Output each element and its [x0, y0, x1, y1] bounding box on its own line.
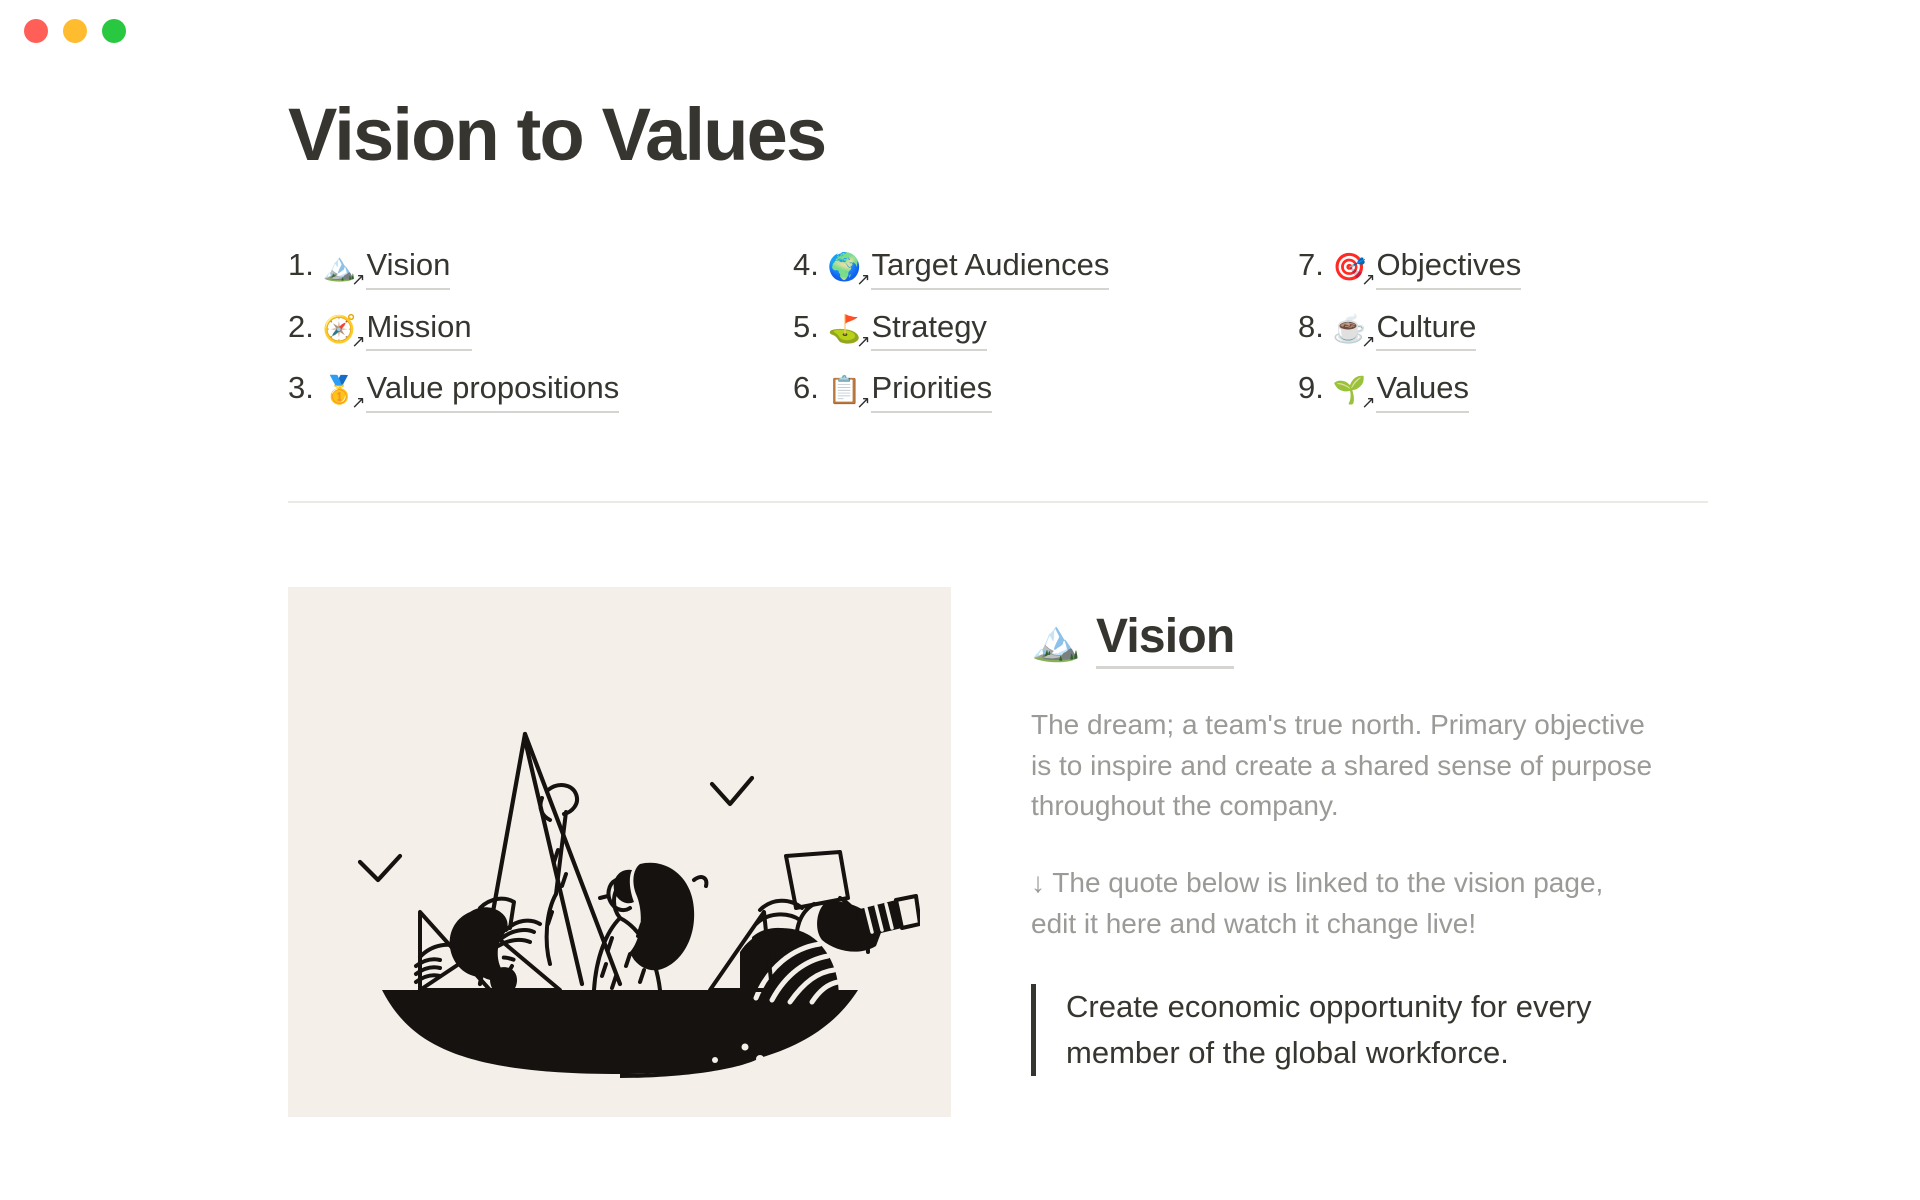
index-link[interactable]: 🏔️↗ Vision [323, 244, 451, 290]
compass-icon: 🧭↗ [323, 316, 357, 343]
index-link[interactable]: 🥇↗ Value propositions [323, 367, 619, 413]
index-number: 8. [1298, 306, 1324, 348]
index-link[interactable]: 🌍↗ Target Audiences [828, 244, 1109, 290]
index-label: Value propositions [366, 367, 619, 413]
maximize-window-button[interactable] [102, 19, 126, 43]
index-number: 3. [288, 367, 314, 409]
page-title: Vision to Values [288, 96, 1670, 174]
coffee-icon: ☕↗ [1333, 316, 1367, 343]
mountain-icon: 🏔️ [1031, 621, 1080, 661]
index-link[interactable]: 🧭↗ Mission [323, 306, 472, 352]
link-arrow-icon: ↗ [1361, 271, 1375, 288]
index-label: Mission [366, 306, 471, 352]
window-titlebar [0, 0, 1920, 62]
link-arrow-icon: ↗ [856, 394, 870, 411]
vision-text-column: 🏔️ Vision The dream; a team's true north… [1031, 587, 1670, 1076]
document-page: Vision to Values 1. 🏔️↗ Vision 4. 🌍↗ Tar… [0, 96, 1920, 1117]
window-traffic-lights [24, 19, 126, 43]
sailboat-illustration-svg [320, 612, 920, 1092]
vision-section: 🏔️ Vision The dream; a team's true north… [288, 587, 1670, 1117]
index-number: 1. [288, 244, 314, 286]
index-link[interactable]: 🎯↗ Objectives [1333, 244, 1521, 290]
vision-hint: ↓ The quote below is linked to the visio… [1031, 863, 1656, 944]
link-arrow-icon: ↗ [351, 333, 365, 350]
index-number: 2. [288, 306, 314, 348]
gold-medal-icon: 🥇↗ [323, 377, 357, 404]
index-label: Strategy [871, 306, 986, 352]
index-number: 9. [1298, 367, 1324, 409]
link-arrow-icon: ↗ [351, 271, 365, 288]
section-index-list: 1. 🏔️↗ Vision 4. 🌍↗ Target Audiences 7. … [288, 244, 1670, 414]
minimize-window-button[interactable] [63, 19, 87, 43]
index-number: 4. [793, 244, 819, 286]
link-arrow-icon: ↗ [856, 271, 870, 288]
index-item-vision[interactable]: 1. 🏔️↗ Vision [288, 244, 793, 290]
index-item-priorities[interactable]: 6. 📋↗ Priorities [793, 367, 1298, 413]
index-link[interactable]: 🌱↗ Values [1333, 367, 1469, 413]
index-label: Culture [1376, 306, 1476, 352]
index-number: 5. [793, 306, 819, 348]
index-number: 6. [793, 367, 819, 409]
index-link[interactable]: ⛳↗ Strategy [828, 306, 987, 352]
index-item-strategy[interactable]: 5. ⛳↗ Strategy [793, 306, 1298, 352]
link-arrow-icon: ↗ [1361, 333, 1375, 350]
index-item-objectives[interactable]: 7. 🎯↗ Objectives [1298, 244, 1670, 290]
close-window-button[interactable] [24, 19, 48, 43]
index-label: Target Audiences [871, 244, 1109, 290]
golf-flag-icon: ⛳↗ [828, 316, 862, 343]
vision-quote[interactable]: Create economic opportunity for every me… [1031, 984, 1666, 1076]
seedling-icon: 🌱↗ [1333, 377, 1367, 404]
target-icon: 🎯↗ [1333, 254, 1367, 281]
index-item-values[interactable]: 9. 🌱↗ Values [1298, 367, 1670, 413]
index-label: Objectives [1376, 244, 1521, 290]
vision-heading-label: Vision [1096, 609, 1234, 669]
index-item-culture[interactable]: 8. ☕↗ Culture [1298, 306, 1670, 352]
vision-description: The dream; a team's true north. Primary … [1031, 705, 1656, 827]
mountain-icon: 🏔️↗ [323, 254, 357, 281]
index-link[interactable]: 📋↗ Priorities [828, 367, 992, 413]
index-label: Vision [366, 244, 450, 290]
globe-icon: 🌍↗ [828, 254, 862, 281]
link-arrow-icon: ↗ [856, 333, 870, 350]
index-link[interactable]: ☕↗ Culture [1333, 306, 1477, 352]
index-item-target-audiences[interactable]: 4. 🌍↗ Target Audiences [793, 244, 1298, 290]
index-number: 7. [1298, 244, 1324, 286]
section-divider [288, 501, 1708, 503]
index-item-value-propositions[interactable]: 3. 🥇↗ Value propositions [288, 367, 793, 413]
clipboard-icon: 📋↗ [828, 377, 862, 404]
link-arrow-icon: ↗ [1361, 394, 1375, 411]
index-label: Values [1376, 367, 1469, 413]
vision-illustration [288, 587, 951, 1117]
vision-heading: 🏔️ Vision [1031, 609, 1670, 669]
index-label: Priorities [871, 367, 992, 413]
link-arrow-icon: ↗ [351, 394, 365, 411]
index-item-mission[interactable]: 2. 🧭↗ Mission [288, 306, 793, 352]
